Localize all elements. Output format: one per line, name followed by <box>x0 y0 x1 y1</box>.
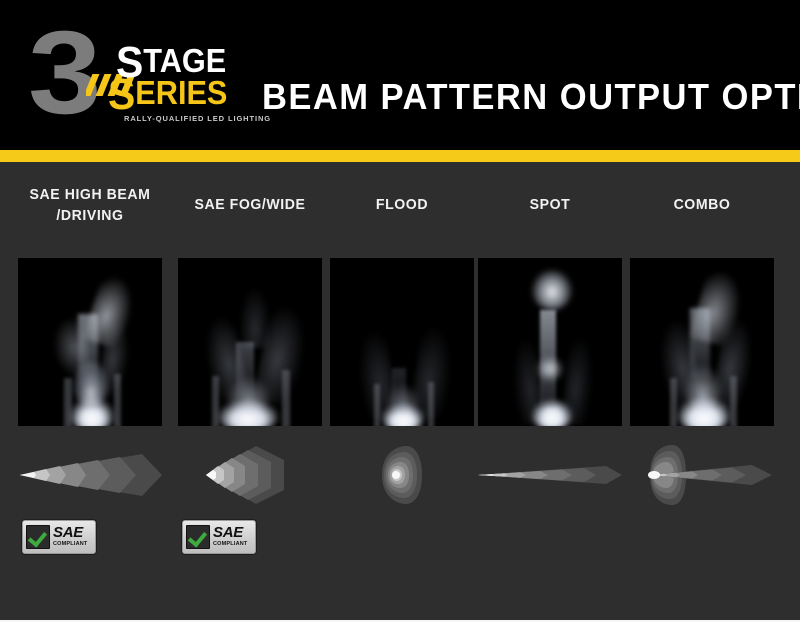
night-trail-scene <box>330 258 474 426</box>
night-trail-scene <box>478 258 622 426</box>
beam-pattern-infographic: 3 STAGE SERIES RALLY-QUALIFIED LED LIGHT… <box>0 0 800 622</box>
column-label-flood: FLOOD <box>334 194 469 215</box>
badge-text: SAE COMPLIANT <box>53 526 92 548</box>
column-label-line1: COMBO <box>674 196 731 213</box>
badge-subtitle: COMPLIANT <box>53 540 92 548</box>
page-title: BEAM PATTERN OUTPUT OPTIONS <box>262 76 761 118</box>
beam-pattern-diagram-combo <box>624 444 780 506</box>
beam-photo-flood <box>330 258 474 426</box>
beam-pattern-diagram-spot <box>472 444 628 506</box>
checkmark-icon <box>186 525 210 549</box>
brand-logo: 3 STAGE SERIES RALLY-QUALIFIED LED LIGHT… <box>28 26 243 131</box>
night-trail-scene <box>630 258 774 426</box>
night-trail-scene <box>178 258 322 426</box>
beam-photo-fog-wide <box>178 258 322 426</box>
sae-compliant-badge-fog-wide: SAE COMPLIANT <box>182 520 256 554</box>
column-label-combo: COMBO <box>634 194 769 215</box>
beam-columns-grid: SAE HIGH BEAM /DRIVING <box>0 162 800 622</box>
badge-text: SAE COMPLIANT <box>213 526 252 548</box>
logo-word-series: SERIES <box>108 76 227 111</box>
beam-pattern-diagram-flood <box>324 444 480 506</box>
beam-pattern-diagram-fog-wide <box>172 444 328 506</box>
checkmark-icon <box>26 525 50 549</box>
column-label-line1: SAE FOG/WIDE <box>195 196 306 213</box>
beam-pattern-diagram-driving <box>12 444 168 506</box>
badge-title: SAE <box>53 526 92 540</box>
column-label-line1: SAE HIGH BEAM <box>30 186 151 203</box>
accent-divider <box>0 150 800 162</box>
column-label-driving: SAE HIGH BEAM /DRIVING <box>22 184 157 226</box>
beam-photo-combo <box>630 258 774 426</box>
beam-photo-driving <box>18 258 162 426</box>
logo-tagline: RALLY-QUALIFIED LED LIGHTING <box>124 114 271 123</box>
night-trail-scene <box>18 258 162 426</box>
logo-wordmark: STAGE SERIES RALLY-QUALIFIED LED LIGHTIN… <box>108 44 248 134</box>
column-label-line2: /DRIVING <box>56 207 123 224</box>
header-bar: 3 STAGE SERIES RALLY-QUALIFIED LED LIGHT… <box>0 0 800 150</box>
column-label-line1: FLOOD <box>376 196 428 213</box>
badge-subtitle: COMPLIANT <box>213 540 252 548</box>
sae-compliant-badge-driving: SAE COMPLIANT <box>22 520 96 554</box>
badge-title: SAE <box>213 526 252 540</box>
beam-photo-spot <box>478 258 622 426</box>
column-label-fog-wide: SAE FOG/WIDE <box>182 194 317 215</box>
column-label-spot: SPOT <box>482 194 617 215</box>
column-label-line1: SPOT <box>530 196 571 213</box>
